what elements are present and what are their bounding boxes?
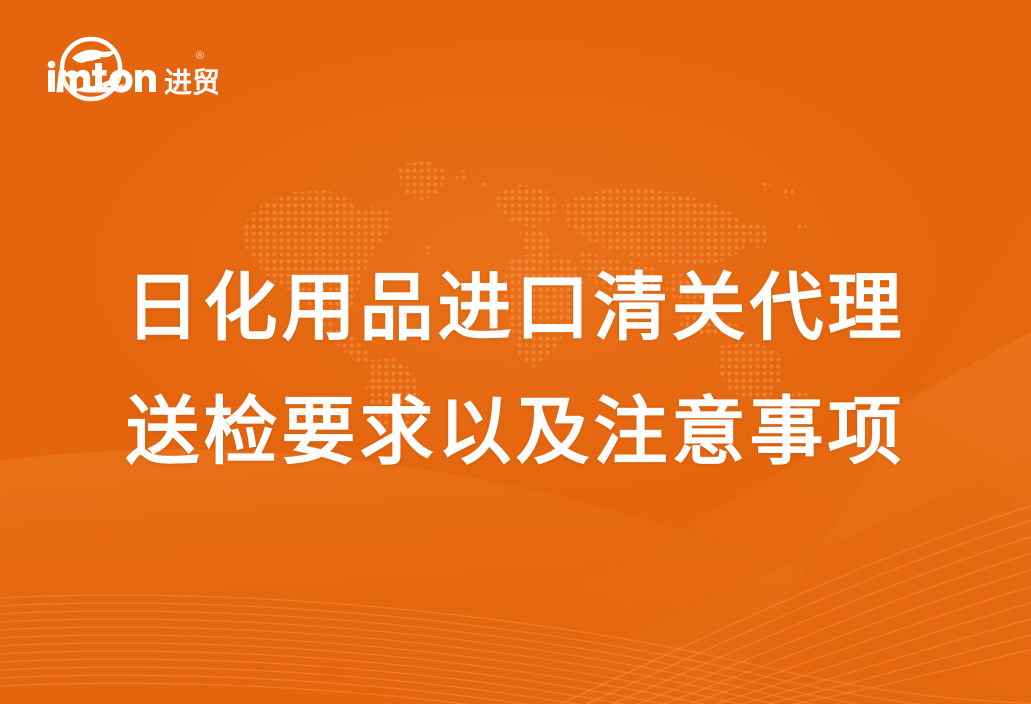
- poster-banner: 进贸通 ® 日化用品进口清关代理 送检要求以及注意事项: [0, 0, 1031, 704]
- world-map-arc-icon: [72, 50, 114, 63]
- headline-line-1: 日化用品进口清关代理: [0, 246, 1031, 370]
- logo-wordmark-chinese: 进贸通: [164, 66, 218, 99]
- imton-logo-svg: 进贸通: [38, 24, 218, 104]
- imton-logo[interactable]: 进贸通 ®: [38, 24, 218, 104]
- registered-trademark-icon: ®: [196, 51, 204, 62]
- headline-block: 日化用品进口清关代理 送检要求以及注意事项: [0, 246, 1031, 494]
- headline-line-2: 送检要求以及注意事项: [0, 370, 1031, 494]
